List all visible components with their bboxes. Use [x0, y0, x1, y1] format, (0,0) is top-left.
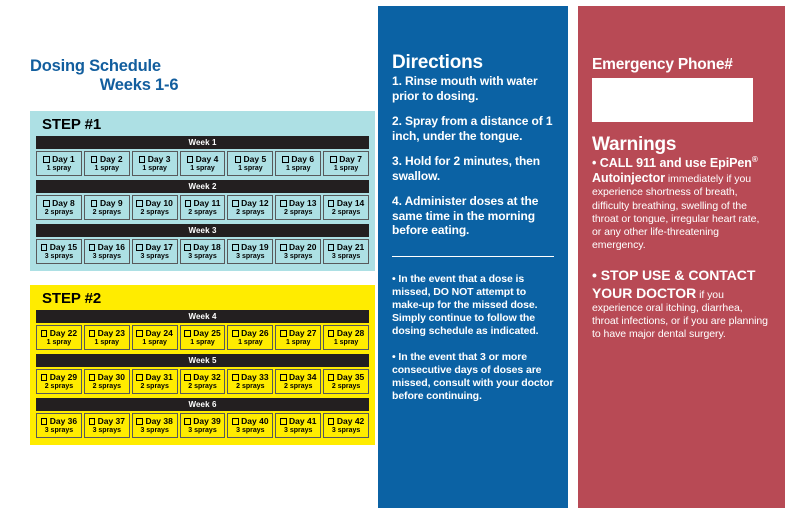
day-cell[interactable]: Day 403 sprays — [227, 413, 273, 438]
day-cell[interactable]: Day 71 spray — [323, 151, 369, 176]
direction-note: • In the event that a dose is missed, DO… — [392, 273, 554, 338]
checkbox-icon[interactable] — [41, 244, 48, 251]
dose-text: 1 spray — [277, 338, 319, 347]
day-label: Day 35 — [325, 372, 367, 382]
warnings-heading: Warnings — [592, 134, 770, 156]
day-text: Day 40 — [241, 416, 268, 426]
week-block: Week 1Day 11 sprayDay 21 sprayDay 31 spr… — [36, 136, 369, 176]
step-2-label: STEP #2 — [42, 291, 369, 307]
week-block: Week 3Day 153 spraysDay 163 spraysDay 17… — [36, 224, 369, 264]
day-label: Day 22 — [38, 328, 80, 338]
checkbox-icon[interactable] — [136, 200, 143, 207]
checkbox-icon[interactable] — [136, 244, 143, 251]
day-text: Day 4 — [196, 154, 219, 164]
checkbox-icon[interactable] — [91, 156, 98, 163]
checkbox-icon[interactable] — [328, 330, 335, 337]
checkbox-icon[interactable] — [280, 244, 287, 251]
dose-text: 3 sprays — [182, 426, 224, 435]
day-cell[interactable]: Day 203 sprays — [275, 239, 321, 264]
step-1-panel: STEP #1 Week 1Day 11 sprayDay 21 sprayDa… — [30, 111, 375, 271]
day-text: Day 33 — [241, 372, 268, 382]
day-row: Day 221 sprayDay 231 sprayDay 241 sprayD… — [36, 325, 369, 350]
checkbox-icon[interactable] — [232, 200, 239, 207]
day-label: Day 37 — [86, 416, 128, 426]
dosing-schedule-column: Dosing Schedule Weeks 1-6 STEP #1 Week 1… — [0, 0, 378, 516]
day-cell[interactable]: Day 373 sprays — [84, 413, 130, 438]
dose-text: 3 sprays — [229, 252, 271, 261]
day-text: Day 6 — [291, 154, 314, 164]
directions-steps-list: 1. Rinse mouth with water prior to dosin… — [392, 74, 554, 238]
checkbox-icon[interactable] — [136, 330, 143, 337]
day-label: Day 23 — [86, 328, 128, 338]
warning-item: • CALL 911 and use EpiPen® Autoinjector … — [592, 156, 770, 252]
day-text: Day 3 — [148, 154, 171, 164]
day-cell[interactable]: Day 322 sprays — [180, 369, 226, 394]
checkbox-icon[interactable] — [43, 156, 50, 163]
day-label: Day 10 — [134, 198, 176, 208]
day-cell[interactable]: Day 153 sprays — [36, 239, 82, 264]
day-label: Day 25 — [182, 328, 224, 338]
day-label: Day 7 — [325, 154, 367, 164]
day-label: Day 6 — [277, 154, 319, 164]
checkbox-icon[interactable] — [280, 330, 287, 337]
week-block: Week 4Day 221 sprayDay 231 sprayDay 241 … — [36, 310, 369, 350]
day-cell[interactable]: Day 173 sprays — [132, 239, 178, 264]
day-label: Day 1 — [38, 154, 80, 164]
day-label: Day 8 — [38, 198, 80, 208]
page-title-line2: Weeks 1-6 — [30, 76, 230, 95]
day-label: Day 9 — [86, 198, 128, 208]
day-label: Day 14 — [325, 198, 367, 208]
day-text: Day 34 — [289, 372, 316, 382]
day-cell[interactable]: Day 213 sprays — [323, 239, 369, 264]
day-text: Day 29 — [50, 372, 77, 382]
directions-notes-list: • In the event that a dose is missed, DO… — [392, 273, 554, 403]
day-text: Day 20 — [289, 242, 316, 252]
week-header: Week 5 — [36, 354, 369, 367]
day-text: Day 30 — [98, 372, 125, 382]
checkbox-icon[interactable] — [43, 200, 50, 207]
direction-step: 3. Hold for 2 minutes, then swallow. — [392, 154, 554, 183]
checkbox-icon[interactable] — [328, 244, 335, 251]
checkbox-icon[interactable] — [280, 374, 287, 381]
step-2-weeks: Week 4Day 221 sprayDay 231 sprayDay 241 … — [36, 310, 369, 438]
day-text: Day 26 — [241, 328, 268, 338]
day-label: Day 40 — [229, 416, 271, 426]
day-cell[interactable]: Day 61 spray — [275, 151, 321, 176]
dose-text: 2 sprays — [86, 208, 128, 217]
dose-text: 1 spray — [86, 164, 128, 173]
day-text: Day 22 — [50, 328, 77, 338]
day-cell[interactable]: Day 132 sprays — [275, 195, 321, 220]
day-label: Day 42 — [325, 416, 367, 426]
day-cell[interactable]: Day 31 spray — [132, 151, 178, 176]
day-cell[interactable]: Day 352 sprays — [323, 369, 369, 394]
dose-text: 1 spray — [325, 164, 367, 173]
day-label: Day 34 — [277, 372, 319, 382]
checkbox-icon[interactable] — [184, 418, 191, 425]
checkbox-icon[interactable] — [184, 244, 191, 251]
checkbox-icon[interactable] — [41, 418, 48, 425]
day-label: Day 31 — [134, 372, 176, 382]
day-cell[interactable]: Day 261 spray — [227, 325, 273, 350]
dose-text: 1 spray — [86, 338, 128, 347]
dose-text: 1 spray — [38, 338, 80, 347]
dose-text: 1 spray — [229, 164, 271, 173]
page-title: Dosing Schedule Weeks 1-6 — [30, 57, 230, 95]
day-label: Day 32 — [182, 372, 224, 382]
day-label: Day 27 — [277, 328, 319, 338]
day-cell[interactable]: Day 92 sprays — [84, 195, 130, 220]
day-text: Day 9 — [100, 198, 123, 208]
warning-item-bold: • STOP USE & CONTACT YOUR DOCTOR — [592, 267, 755, 300]
day-label: Day 15 — [38, 242, 80, 252]
dose-text: 2 sprays — [38, 382, 80, 391]
dose-text: 1 spray — [182, 164, 224, 173]
day-text: Day 23 — [98, 328, 125, 338]
day-text: Day 11 — [194, 198, 221, 208]
checkbox-icon[interactable] — [89, 418, 96, 425]
day-cell[interactable]: Day 342 sprays — [275, 369, 321, 394]
emergency-phone-input[interactable] — [592, 78, 753, 122]
day-label: Day 13 — [277, 198, 319, 208]
warnings-panel: Emergency Phone# Warnings • CALL 911 and… — [578, 6, 785, 508]
day-text: Day 5 — [244, 154, 267, 164]
day-label: Day 28 — [325, 328, 367, 338]
day-label: Day 3 — [134, 154, 176, 164]
dose-text: 3 sprays — [86, 252, 128, 261]
checkbox-icon[interactable] — [280, 200, 287, 207]
day-text: Day 14 — [337, 198, 364, 208]
direction-step: 1. Rinse mouth with water prior to dosin… — [392, 74, 554, 103]
day-cell[interactable]: Day 281 spray — [323, 325, 369, 350]
checkbox-icon[interactable] — [89, 244, 96, 251]
day-text: Day 17 — [145, 242, 172, 252]
day-label: Day 16 — [86, 242, 128, 252]
dose-text: 2 sprays — [182, 208, 224, 217]
dose-text: 1 spray — [182, 338, 224, 347]
day-text: Day 2 — [100, 154, 123, 164]
day-label: Day 36 — [38, 416, 80, 426]
dose-text: 1 spray — [325, 338, 367, 347]
day-text: Day 7 — [339, 154, 362, 164]
day-label: Day 12 — [229, 198, 271, 208]
dose-text: 3 sprays — [38, 252, 80, 261]
dose-text: 1 spray — [134, 338, 176, 347]
day-text: Day 28 — [337, 328, 364, 338]
day-text: Day 42 — [337, 416, 364, 426]
day-text: Day 36 — [50, 416, 77, 426]
dose-text: 3 sprays — [277, 252, 319, 261]
week-header: Week 1 — [36, 136, 369, 149]
day-text: Day 12 — [241, 198, 268, 208]
day-cell[interactable]: Day 302 sprays — [84, 369, 130, 394]
day-cell[interactable]: Day 241 spray — [132, 325, 178, 350]
day-cell[interactable]: Day 251 spray — [180, 325, 226, 350]
day-label: Day 5 — [229, 154, 271, 164]
dose-text: 2 sprays — [182, 382, 224, 391]
week-block: Week 6Day 363 spraysDay 373 spraysDay 38… — [36, 398, 369, 438]
directions-heading: Directions — [392, 52, 554, 73]
checkbox-icon[interactable] — [232, 244, 239, 251]
day-text: Day 25 — [193, 328, 220, 338]
day-cell[interactable]: Day 21 spray — [84, 151, 130, 176]
day-label: Day 11 — [182, 198, 224, 208]
day-text: Day 31 — [145, 372, 172, 382]
dose-text: 3 sprays — [325, 426, 367, 435]
step-1-label: STEP #1 — [42, 117, 369, 133]
day-label: Day 26 — [229, 328, 271, 338]
step-1-weeks: Week 1Day 11 sprayDay 21 sprayDay 31 spr… — [36, 136, 369, 264]
direction-step: 2. Spray from a distance of 1 inch, unde… — [392, 114, 554, 143]
day-label: Day 20 — [277, 242, 319, 252]
dose-text: 2 sprays — [229, 208, 271, 217]
day-text: Day 15 — [50, 242, 77, 252]
warnings-items-list: • CALL 911 and use EpiPen® Autoinjector … — [592, 156, 770, 341]
day-text: Day 37 — [98, 416, 125, 426]
day-label: Day 38 — [134, 416, 176, 426]
day-text: Day 10 — [145, 198, 172, 208]
day-cell[interactable]: Day 393 sprays — [180, 413, 226, 438]
week-header: Week 6 — [36, 398, 369, 411]
day-cell[interactable]: Day 231 spray — [84, 325, 130, 350]
checkbox-icon[interactable] — [41, 330, 48, 337]
checkbox-icon[interactable] — [232, 374, 239, 381]
day-cell[interactable]: Day 41 spray — [180, 151, 226, 176]
checkbox-icon[interactable] — [136, 374, 143, 381]
day-text: Day 8 — [52, 198, 75, 208]
day-text: Day 24 — [145, 328, 172, 338]
dose-text: 1 spray — [38, 164, 80, 173]
dose-text: 2 sprays — [38, 208, 80, 217]
dose-text: 2 sprays — [277, 382, 319, 391]
dose-text: 2 sprays — [325, 382, 367, 391]
day-row: Day 82 spraysDay 92 spraysDay 102 sprays… — [36, 195, 369, 220]
dose-text: 3 sprays — [134, 252, 176, 261]
day-label: Day 4 — [182, 154, 224, 164]
checkbox-icon[interactable] — [328, 418, 335, 425]
dose-text: 3 sprays — [277, 426, 319, 435]
checkbox-icon[interactable] — [282, 156, 289, 163]
day-row: Day 292 spraysDay 302 spraysDay 312 spra… — [36, 369, 369, 394]
checkbox-icon[interactable] — [232, 418, 239, 425]
day-cell[interactable]: Day 423 sprays — [323, 413, 369, 438]
day-label: Day 29 — [38, 372, 80, 382]
day-text: Day 18 — [193, 242, 220, 252]
directions-panel: Directions 1. Rinse mouth with water pri… — [378, 6, 568, 508]
day-row: Day 153 spraysDay 163 spraysDay 173 spra… — [36, 239, 369, 264]
dose-text: 3 sprays — [325, 252, 367, 261]
week-block: Week 2Day 82 spraysDay 92 spraysDay 102 … — [36, 180, 369, 220]
day-cell[interactable]: Day 183 sprays — [180, 239, 226, 264]
step-2-panel: STEP #2 Week 4Day 221 sprayDay 231 spray… — [30, 285, 375, 445]
checkbox-icon[interactable] — [185, 200, 192, 207]
dose-text: 3 sprays — [38, 426, 80, 435]
direction-step: 4. Administer doses at the same time in … — [392, 194, 554, 238]
day-cell[interactable]: Day 163 sprays — [84, 239, 130, 264]
day-cell[interactable]: Day 11 spray — [36, 151, 82, 176]
day-cell[interactable]: Day 292 sprays — [36, 369, 82, 394]
day-label: Day 21 — [325, 242, 367, 252]
day-text: Day 1 — [52, 154, 75, 164]
checkbox-icon[interactable] — [328, 200, 335, 207]
week-header: Week 4 — [36, 310, 369, 323]
day-label: Day 19 — [229, 242, 271, 252]
day-label: Day 39 — [182, 416, 224, 426]
checkbox-icon[interactable] — [235, 156, 242, 163]
day-cell[interactable]: Day 142 sprays — [323, 195, 369, 220]
day-cell[interactable]: Day 332 sprays — [227, 369, 273, 394]
day-text: Day 32 — [193, 372, 220, 382]
week-header: Week 2 — [36, 180, 369, 193]
day-cell[interactable]: Day 122 sprays — [227, 195, 273, 220]
checkbox-icon[interactable] — [89, 330, 96, 337]
day-text: Day 41 — [289, 416, 316, 426]
emergency-phone-heading: Emergency Phone# — [592, 56, 770, 74]
checkbox-icon[interactable] — [280, 418, 287, 425]
dose-text: 3 sprays — [182, 252, 224, 261]
day-text: Day 35 — [337, 372, 364, 382]
day-cell[interactable]: Day 383 sprays — [132, 413, 178, 438]
checkbox-icon[interactable] — [184, 330, 191, 337]
day-cell[interactable]: Day 51 spray — [227, 151, 273, 176]
dose-text: 2 sprays — [134, 208, 176, 217]
dose-text: 1 spray — [134, 164, 176, 173]
checkbox-icon[interactable] — [232, 330, 239, 337]
warning-item: • STOP USE & CONTACT YOUR DOCTOR if you … — [592, 267, 770, 341]
page-title-line1: Dosing Schedule — [30, 57, 230, 76]
day-cell[interactable]: Day 312 sprays — [132, 369, 178, 394]
day-cell[interactable]: Day 193 sprays — [227, 239, 273, 264]
checkbox-icon[interactable] — [136, 418, 143, 425]
day-label: Day 2 — [86, 154, 128, 164]
dose-text: 2 sprays — [277, 208, 319, 217]
day-cell[interactable]: Day 271 spray — [275, 325, 321, 350]
week-block: Week 5Day 292 spraysDay 302 spraysDay 31… — [36, 354, 369, 394]
dose-text: 1 spray — [229, 338, 271, 347]
day-cell[interactable]: Day 82 sprays — [36, 195, 82, 220]
direction-note: • In the event that 3 or more consecutiv… — [392, 351, 554, 403]
day-label: Day 18 — [182, 242, 224, 252]
day-label: Day 33 — [229, 372, 271, 382]
dose-text: 1 spray — [277, 164, 319, 173]
day-row: Day 11 sprayDay 21 sprayDay 31 sprayDay … — [36, 151, 369, 176]
dose-text: 2 sprays — [229, 382, 271, 391]
directions-divider — [392, 256, 554, 257]
day-text: Day 13 — [289, 198, 316, 208]
checkbox-icon[interactable] — [41, 374, 48, 381]
dose-text: 2 sprays — [325, 208, 367, 217]
day-text: Day 16 — [98, 242, 125, 252]
day-text: Day 21 — [337, 242, 364, 252]
day-label: Day 41 — [277, 416, 319, 426]
day-label: Day 24 — [134, 328, 176, 338]
checkbox-icon[interactable] — [89, 374, 96, 381]
day-cell[interactable]: Day 102 sprays — [132, 195, 178, 220]
day-label: Day 30 — [86, 372, 128, 382]
day-cell[interactable]: Day 221 spray — [36, 325, 82, 350]
day-cell[interactable]: Day 363 sprays — [36, 413, 82, 438]
dose-text: 2 sprays — [86, 382, 128, 391]
dose-text: 3 sprays — [86, 426, 128, 435]
day-cell[interactable]: Day 112 sprays — [180, 195, 226, 220]
checkbox-icon[interactable] — [139, 156, 146, 163]
day-cell[interactable]: Day 413 sprays — [275, 413, 321, 438]
checkbox-icon[interactable] — [330, 156, 337, 163]
checkbox-icon[interactable] — [184, 374, 191, 381]
week-header: Week 3 — [36, 224, 369, 237]
dose-text: 3 sprays — [134, 426, 176, 435]
checkbox-icon[interactable] — [187, 156, 194, 163]
day-label: Day 17 — [134, 242, 176, 252]
day-text: Day 27 — [289, 328, 316, 338]
day-row: Day 363 spraysDay 373 spraysDay 383 spra… — [36, 413, 369, 438]
checkbox-icon[interactable] — [91, 200, 98, 207]
checkbox-icon[interactable] — [328, 374, 335, 381]
dose-text: 2 sprays — [134, 382, 176, 391]
day-text: Day 19 — [241, 242, 268, 252]
day-text: Day 38 — [145, 416, 172, 426]
dose-text: 3 sprays — [229, 426, 271, 435]
day-text: Day 39 — [193, 416, 220, 426]
